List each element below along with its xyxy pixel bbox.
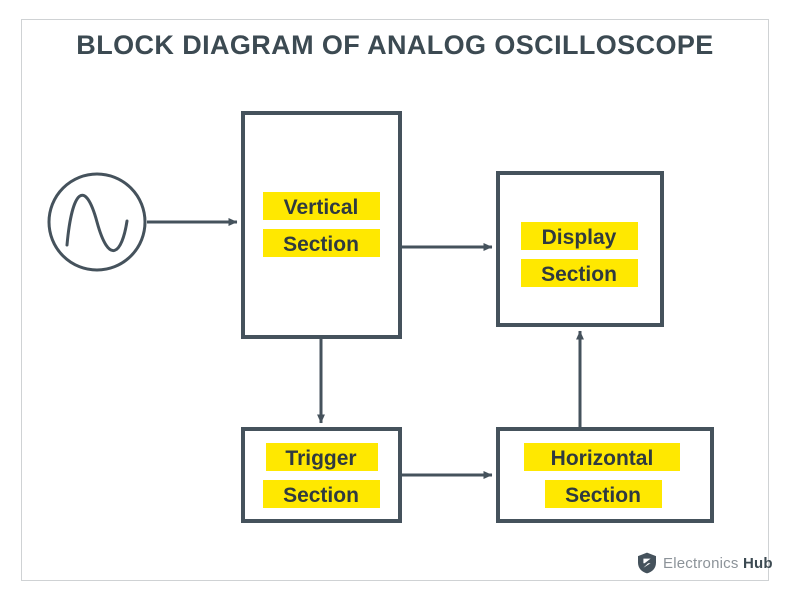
brand-logo-text-bold: Hub: [743, 555, 773, 572]
block-display-section: Display Section: [498, 173, 662, 325]
shield-icon: [637, 552, 657, 574]
block-trigger-label-line2: Section: [283, 484, 359, 507]
brand-logo: Electronics Hub: [637, 552, 773, 574]
brand-logo-text-light: Electronics: [663, 555, 743, 572]
block-display-label-line1: Display: [542, 226, 617, 249]
block-trigger-label-line1: Trigger: [285, 447, 356, 470]
block-horizontal-label-line2: Section: [565, 484, 641, 507]
block-horizontal-section: Horizontal Section: [498, 429, 712, 521]
block-vertical-section: Vertical Section: [243, 113, 400, 337]
block-vertical-section-rect: [243, 113, 400, 337]
block-vertical-label-line1: Vertical: [284, 196, 359, 219]
block-diagram: Vertical Section Display Section Trigger…: [0, 0, 790, 600]
block-display-label-line2: Section: [541, 263, 617, 286]
page-root: BLOCK DIAGRAM OF ANALOG OSCILLOSCOPE Ver…: [0, 0, 790, 600]
block-vertical-label-line2: Section: [283, 233, 359, 256]
block-horizontal-label-line1: Horizontal: [551, 447, 654, 470]
brand-logo-text: Electronics Hub: [663, 555, 773, 572]
signal-source: [49, 174, 145, 270]
block-trigger-section: Trigger Section: [243, 429, 400, 521]
